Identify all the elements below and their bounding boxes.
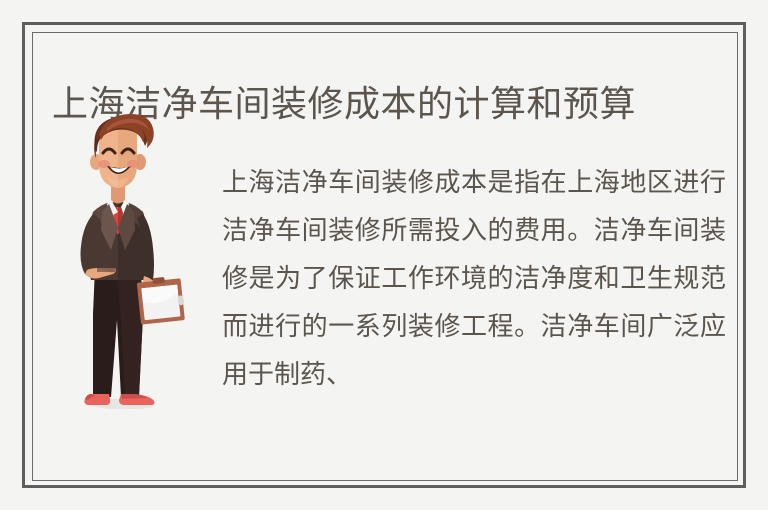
- businessman-illustration: [55, 108, 215, 440]
- article-card: 上海洁净车间装修成本的计算和预算 上海洁净车间装修成本是指在上海地区进行洁净车间…: [0, 0, 768, 510]
- article-body: 上海洁净车间装修成本是指在上海地区进行洁净车间装修所需投入的费用。洁净车间装修是…: [222, 158, 726, 398]
- trousers: [93, 268, 143, 397]
- right-blush: [127, 160, 139, 168]
- clipboard: [136, 275, 185, 324]
